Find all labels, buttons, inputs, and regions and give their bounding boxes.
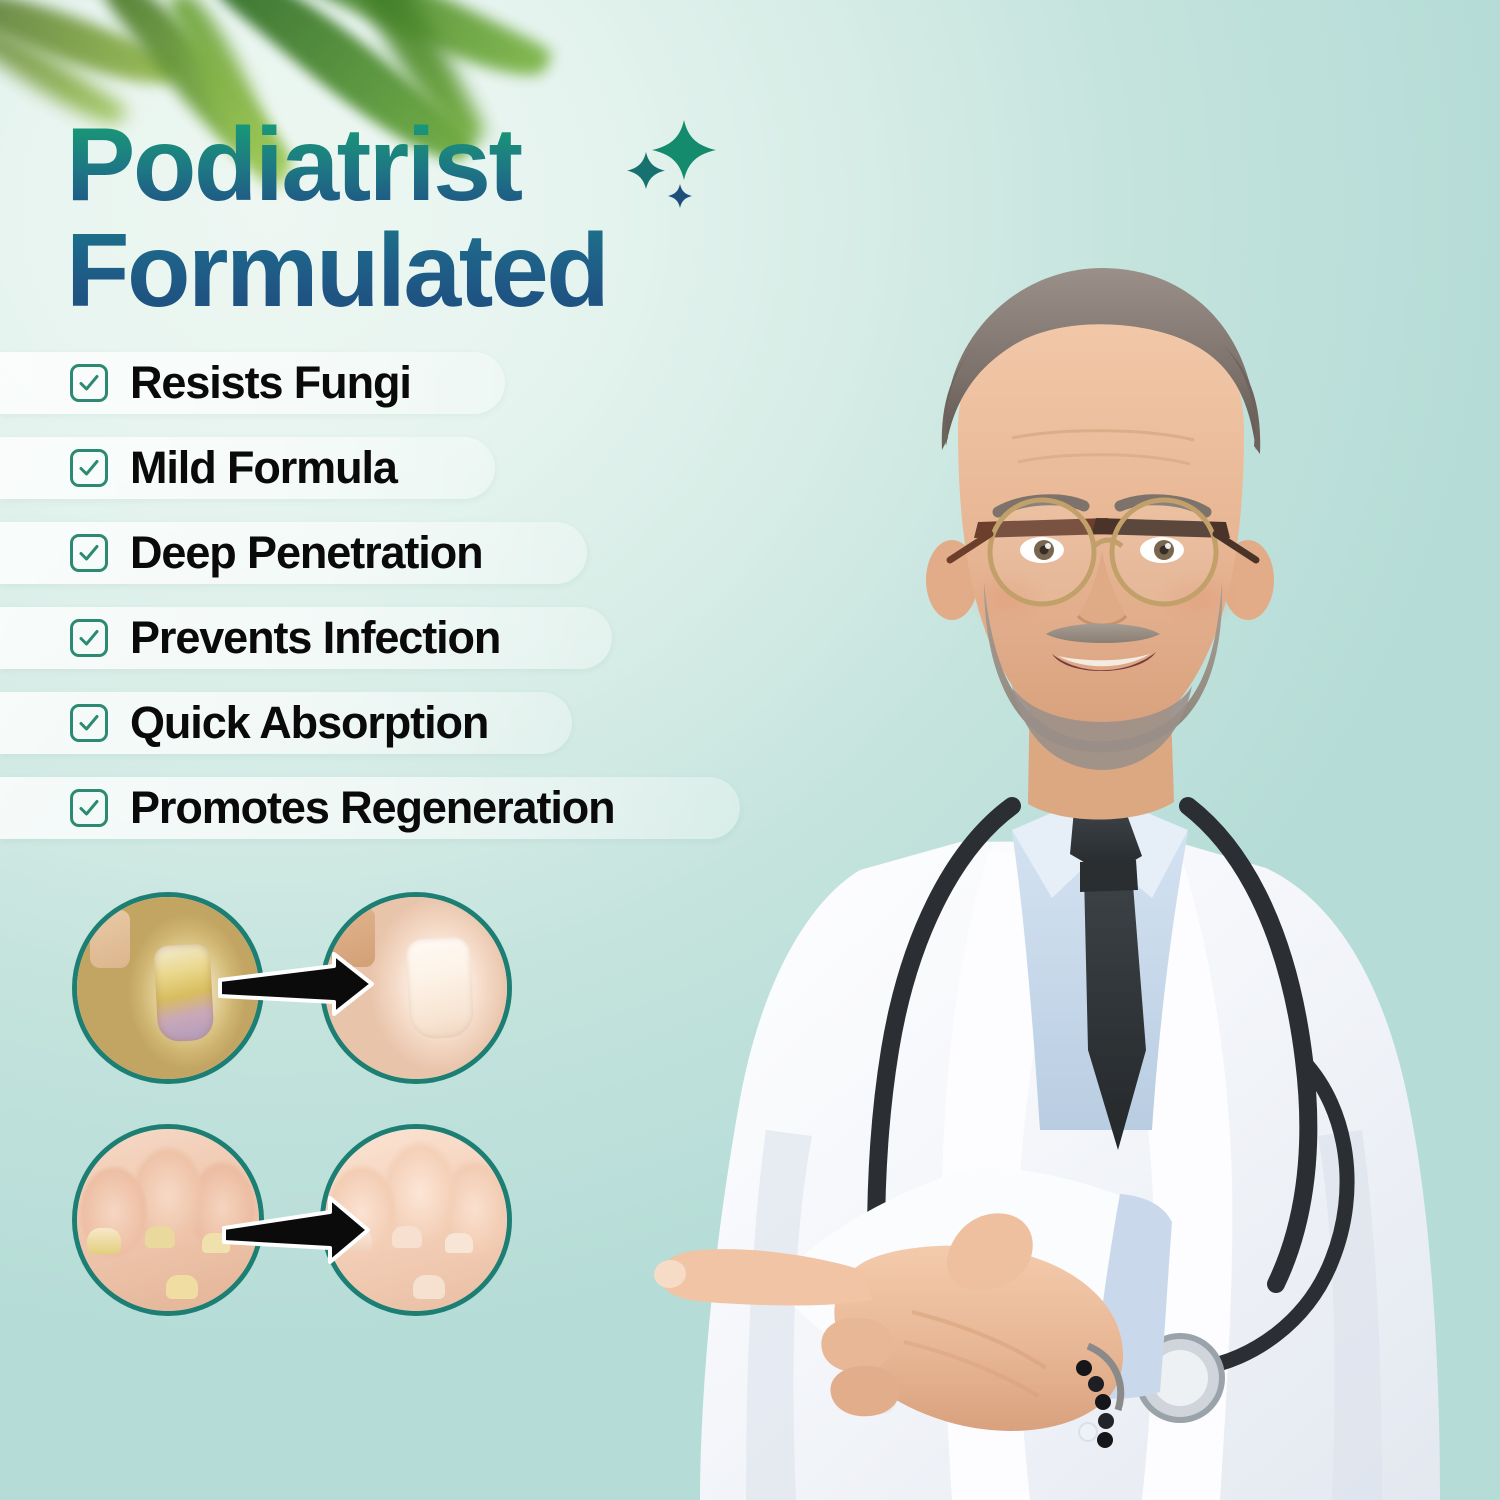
feature-label: Quick Absorption bbox=[130, 697, 488, 749]
checkbox-checked-icon[interactable] bbox=[70, 534, 108, 572]
feature-label: Promotes Regeneration bbox=[130, 782, 615, 834]
coat-button bbox=[1079, 1423, 1097, 1441]
result-pair-toenail bbox=[72, 892, 512, 1084]
sparkle-small-icon bbox=[668, 184, 692, 208]
doctor-head bbox=[926, 268, 1274, 770]
feature-label: Deep Penetration bbox=[130, 527, 483, 579]
checkbox-checked-icon[interactable] bbox=[70, 789, 108, 827]
toenail-after-photo bbox=[320, 892, 512, 1084]
feature-label: Resists Fungi bbox=[130, 357, 411, 409]
promo-image-canvas: Podiatrist Formulated Resists Fungi Mi bbox=[0, 0, 1500, 1500]
feature-label: Mild Formula bbox=[130, 442, 397, 494]
checkbox-checked-icon[interactable] bbox=[70, 449, 108, 487]
checkbox-checked-icon[interactable] bbox=[70, 619, 108, 657]
fingernail-after-photo bbox=[320, 1124, 512, 1316]
feature-label: Prevents Infection bbox=[130, 612, 500, 664]
sparkle-medium-icon bbox=[627, 152, 665, 189]
result-pair-fingernail bbox=[72, 1124, 512, 1316]
fingernail-before-photo bbox=[72, 1124, 264, 1316]
checkbox-checked-icon[interactable] bbox=[70, 364, 108, 402]
checkbox-checked-icon[interactable] bbox=[70, 704, 108, 742]
toenail-before-photo bbox=[72, 892, 264, 1084]
doctor-photo bbox=[560, 250, 1500, 1500]
before-after-results bbox=[72, 892, 512, 1342]
sparkle-cluster bbox=[612, 112, 732, 222]
